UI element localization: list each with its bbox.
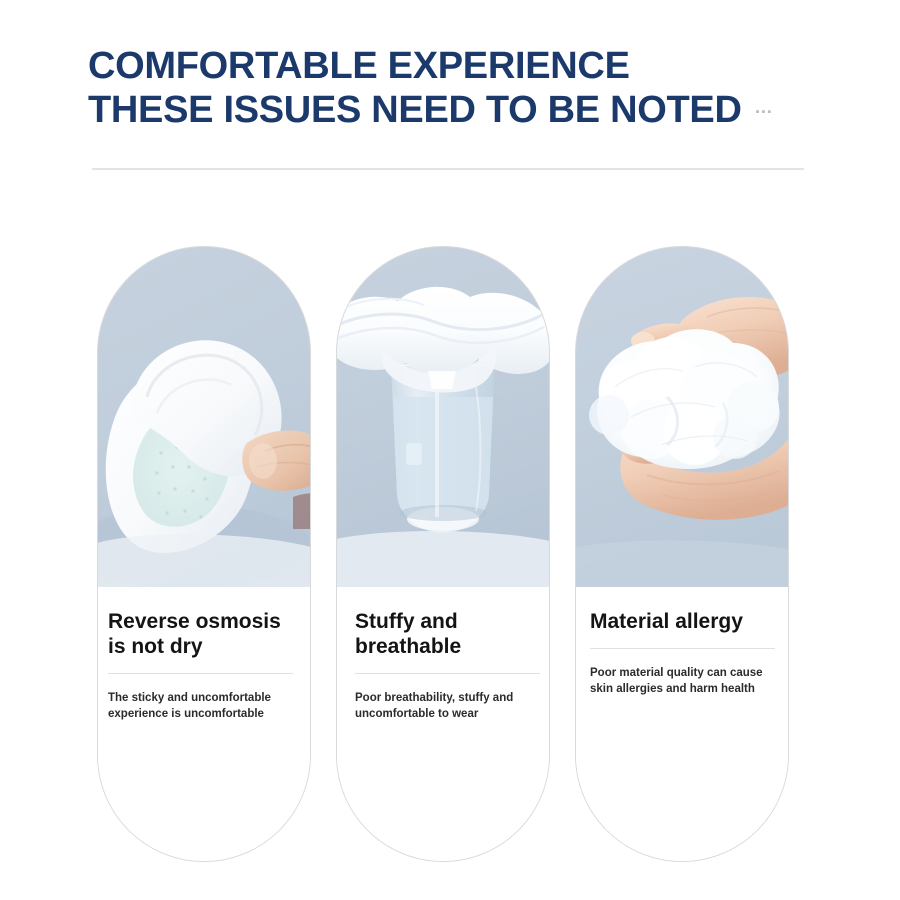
card-description-line-2: experience is uncomfortable xyxy=(108,706,296,722)
feature-card-stuffy-breathable[interactable]: Stuffy and breathable Poor breathability… xyxy=(336,246,550,862)
card-title-line-1: Material allergy xyxy=(590,609,774,634)
headline-line-2: THESE ISSUES NEED TO BE NOTED xyxy=(88,88,742,132)
headline-line-2-row: THESE ISSUES NEED TO BE NOTED ▪▪▪ xyxy=(88,88,828,132)
card-description-line-2: uncomfortable to wear xyxy=(355,706,535,722)
card-title-line-1: Reverse osmosis xyxy=(108,609,296,634)
card-title: Reverse osmosis is not dry xyxy=(108,609,296,659)
card-description-line-1: The sticky and uncomfortable xyxy=(108,690,296,706)
card-title: Stuffy and breathable xyxy=(355,609,535,659)
infographic-page: COMFORTABLE EXPERIENCE THESE ISSUES NEED… xyxy=(0,0,900,900)
card-title-line-2: breathable xyxy=(355,634,535,659)
card-description-line-1: Poor breathability, stuffy and xyxy=(355,690,535,706)
feature-card-list: Reverse osmosis is not dry The sticky an… xyxy=(97,246,789,862)
card-body: Material allergy Poor material quality c… xyxy=(576,587,788,861)
card-divider xyxy=(108,673,293,674)
card-description-line-1: Poor material quality can cause xyxy=(590,665,774,681)
card-divider xyxy=(590,648,775,649)
card-description: Poor breathability, stuffy and uncomfort… xyxy=(355,690,535,722)
pad-over-water-glass-photo xyxy=(337,247,549,587)
feature-card-material-allergy[interactable]: Material allergy Poor material quality c… xyxy=(575,246,789,862)
card-body: Stuffy and breathable Poor breathability… xyxy=(337,587,549,861)
ellipsis-marks-icon: ▪▪▪ xyxy=(756,107,774,118)
header-divider xyxy=(92,168,804,170)
card-title-line-2: is not dry xyxy=(108,634,296,659)
hands-holding-fiber-photo xyxy=(576,247,788,587)
card-description: The sticky and uncomfortable experience … xyxy=(108,690,296,722)
card-title-line-1: Stuffy and xyxy=(355,609,535,634)
feature-card-reverse-osmosis[interactable]: Reverse osmosis is not dry The sticky an… xyxy=(97,246,311,862)
page-header: COMFORTABLE EXPERIENCE THESE ISSUES NEED… xyxy=(88,44,828,132)
card-body: Reverse osmosis is not dry The sticky an… xyxy=(98,587,310,861)
card-description: Poor material quality can cause skin all… xyxy=(590,665,774,697)
headline-line-1: COMFORTABLE EXPERIENCE xyxy=(88,44,828,88)
card-description-line-2: skin allergies and harm health xyxy=(590,681,774,697)
hand-pressing-sanitary-pad-photo xyxy=(98,247,310,587)
card-title: Material allergy xyxy=(590,609,774,634)
card-divider xyxy=(355,673,540,674)
